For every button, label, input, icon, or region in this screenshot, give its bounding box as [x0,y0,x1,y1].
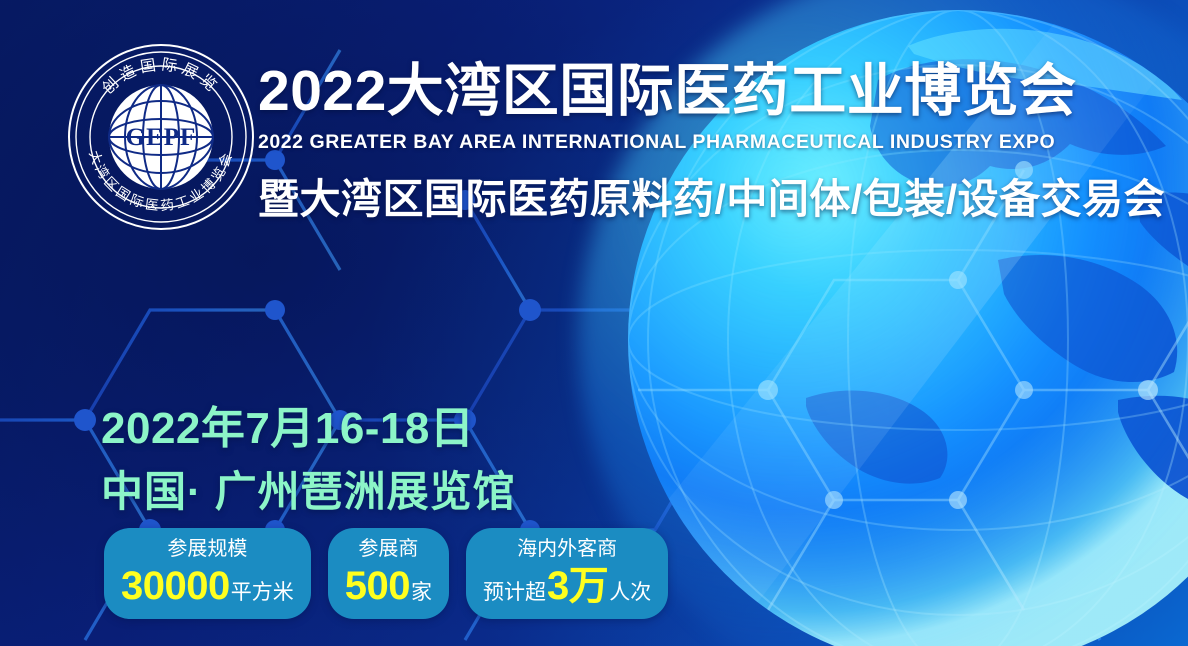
stat-value: 500 [345,564,410,608]
stat-value-row: 500 家 [345,564,432,608]
expo-promo-banner: GEPF 创造国际展览 大湾区国际医药工业博览会 2022大湾区国际医药工业博览… [0,0,1188,646]
stat-unit: 人次 [609,581,651,604]
stat-label: 参展商 [345,537,432,562]
title-chinese: 2022大湾区国际医药工业博览会 [258,62,1168,122]
stat-label: 海内外客商 [483,537,651,562]
stat-unit: 平方米 [231,581,294,604]
title-subtitle-chinese: 暨大湾区国际医药原料药/中间体/包装/设备交易会 [258,165,1168,225]
stat-pill-scale: 参展规模 30000 平方米 [104,528,311,619]
event-date: 2022年7月16-18日 [101,392,474,456]
stats-row: 参展规模 30000 平方米 参展商 500 家 海内外客商 预计超 3万 人次 [104,528,668,619]
stat-value: 3万 [547,564,608,608]
headline-block: 2022大湾区国际医药工业博览会 2022 GREATER BAY AREA I… [258,62,1168,225]
title-english: 2022 GREATER BAY AREA INTERNATIONAL PHAR… [258,131,1168,154]
svg-text:GEPF: GEPF [126,124,197,151]
stat-pill-visitors: 海内外客商 预计超 3万 人次 [466,528,668,619]
stat-value-row: 预计超 3万 人次 [483,564,651,608]
stat-pill-exhibitors: 参展商 500 家 [328,528,449,619]
gepf-logo: GEPF 创造国际展览 大湾区国际医药工业博览会 [66,42,256,232]
logo-globe-icon: GEPF [109,85,213,189]
stat-label: 参展规模 [121,537,294,562]
stat-value-row: 30000 平方米 [121,564,294,608]
stat-unit: 家 [411,581,432,604]
event-venue: 中国· 广州琶洲展览馆 [101,458,516,519]
stat-prefix: 预计超 [483,581,546,604]
stat-value: 30000 [121,564,230,608]
